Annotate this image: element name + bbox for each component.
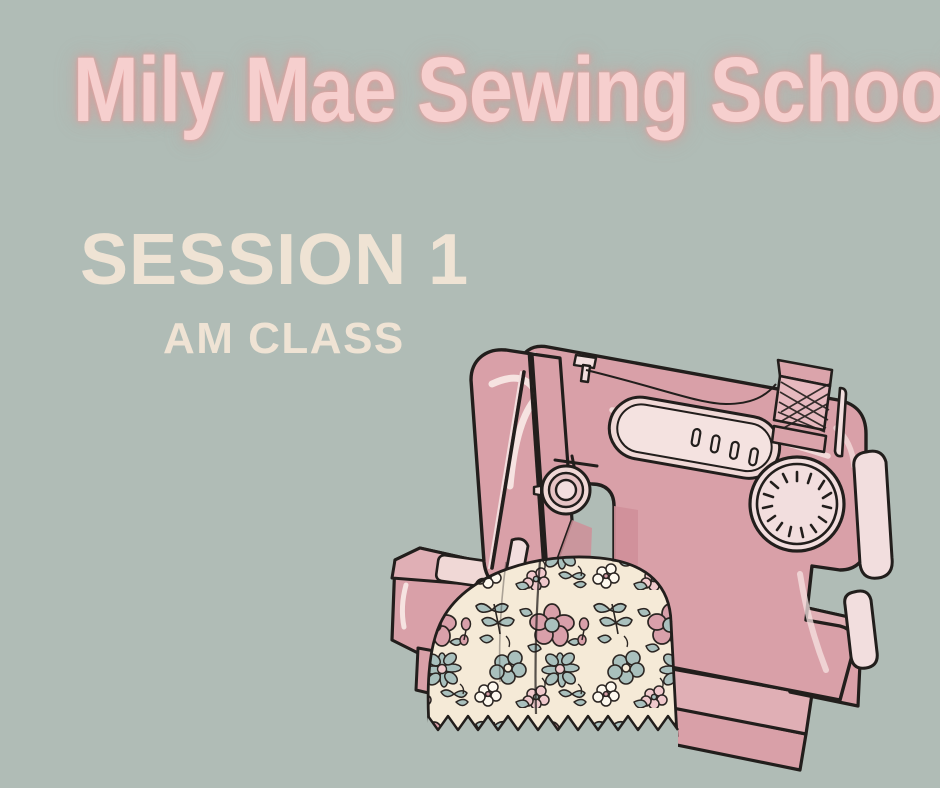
poster-title: Mily Mae Sewing School	[73, 44, 940, 136]
handwheel-dial	[750, 457, 844, 551]
poster-title-wrap: Mily Mae Sewing School	[0, 44, 940, 136]
class-label: AM CLASS	[163, 317, 405, 361]
poster-canvas: Mily Mae Sewing School SESSION 1 AM CLAS…	[0, 0, 940, 788]
session-label: SESSION 1	[80, 224, 469, 296]
